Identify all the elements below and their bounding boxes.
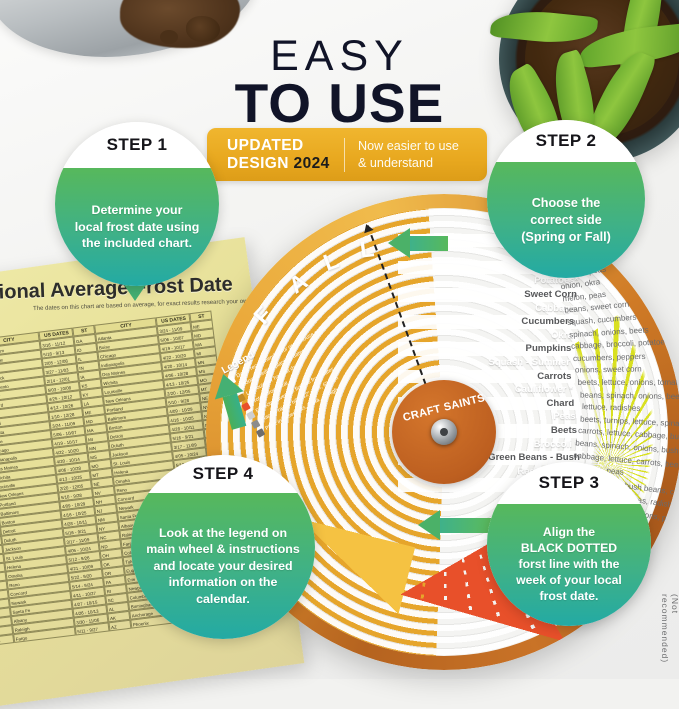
vegetable-row: Sweet Corn (398, 288, 581, 302)
poster-canvas: EASY TO USE National Average Frost Date … (0, 0, 679, 679)
updated-design-banner: UPDATED DESIGN 2024 Now easier to use & … (207, 128, 487, 181)
banner-divider (344, 138, 345, 172)
step-3-title: STEP 3 (539, 473, 600, 493)
step-4-title: STEP 4 (193, 464, 254, 484)
not-recommended-label: (Not recommended) (660, 594, 679, 670)
fall-letter: L (320, 246, 342, 276)
step-4-callout: STEP 4 Look at the legend onmain wheel &… (131, 455, 315, 639)
step-3-body: Align theBLACK DOTTEDforst line with the… (487, 504, 651, 626)
frost-chart-cell: AZ (108, 620, 131, 632)
banner-design-year: DESIGN 2024 (227, 155, 330, 172)
banner-year: 2024 (294, 155, 330, 172)
step-1-body: Determine yourlocal frost date usingthe … (55, 168, 219, 286)
step-1-title: STEP 1 (107, 135, 168, 155)
companion-row: beets, lettuce, onions, tomato (576, 376, 679, 390)
wheel-center-rivet[interactable] (431, 419, 457, 445)
fall-letter: A (284, 268, 313, 300)
step-2-body: Choose thecorrect side(Spring or Fall) (487, 162, 645, 278)
banner-updated: UPDATED (227, 137, 330, 154)
vegetable-row: Cucumbers (398, 315, 578, 329)
step-3-header: STEP 3 (487, 462, 651, 504)
step-4-header: STEP 4 (131, 455, 315, 493)
vegetable-row: Cabbage (398, 302, 580, 316)
frost-chart-cell: ND (0, 634, 14, 646)
vegetable-row: Pumpkins (398, 342, 575, 356)
step-1-header: STEP 1 (55, 122, 219, 168)
banner-tagline: Now easier to use & understand (358, 138, 459, 172)
banner-design: DESIGN (227, 155, 289, 172)
step-4-body: Look at the legend onmain wheel & instru… (131, 493, 315, 639)
banner-left: UPDATED DESIGN 2024 (207, 137, 330, 172)
step-4-text: Look at the legend onmain wheel & instru… (137, 525, 309, 607)
step-2-text: Choose thecorrect side(Spring or Fall) (505, 195, 627, 246)
step-1-text: Determine yourlocal frost date usingthe … (61, 202, 214, 252)
step-2-header: STEP 2 (487, 120, 645, 162)
step-1-callout: STEP 1 Determine yourlocal frost date us… (55, 122, 219, 286)
step-2-title: STEP 2 (536, 131, 597, 151)
step-2-callout: STEP 2 Choose thecorrect side(Spring or … (487, 120, 645, 278)
vegetable-row: Squash - Summer (398, 356, 574, 370)
vegetable-row: Okra (398, 329, 577, 343)
banner-tagline-line1: Now easier to use (358, 138, 459, 155)
step-3-callout: STEP 3 Align theBLACK DOTTEDforst line w… (487, 462, 651, 626)
banner-tagline-line2: & understand (358, 155, 459, 172)
step-3-text: Align theBLACK DOTTEDforst line with the… (506, 525, 632, 604)
